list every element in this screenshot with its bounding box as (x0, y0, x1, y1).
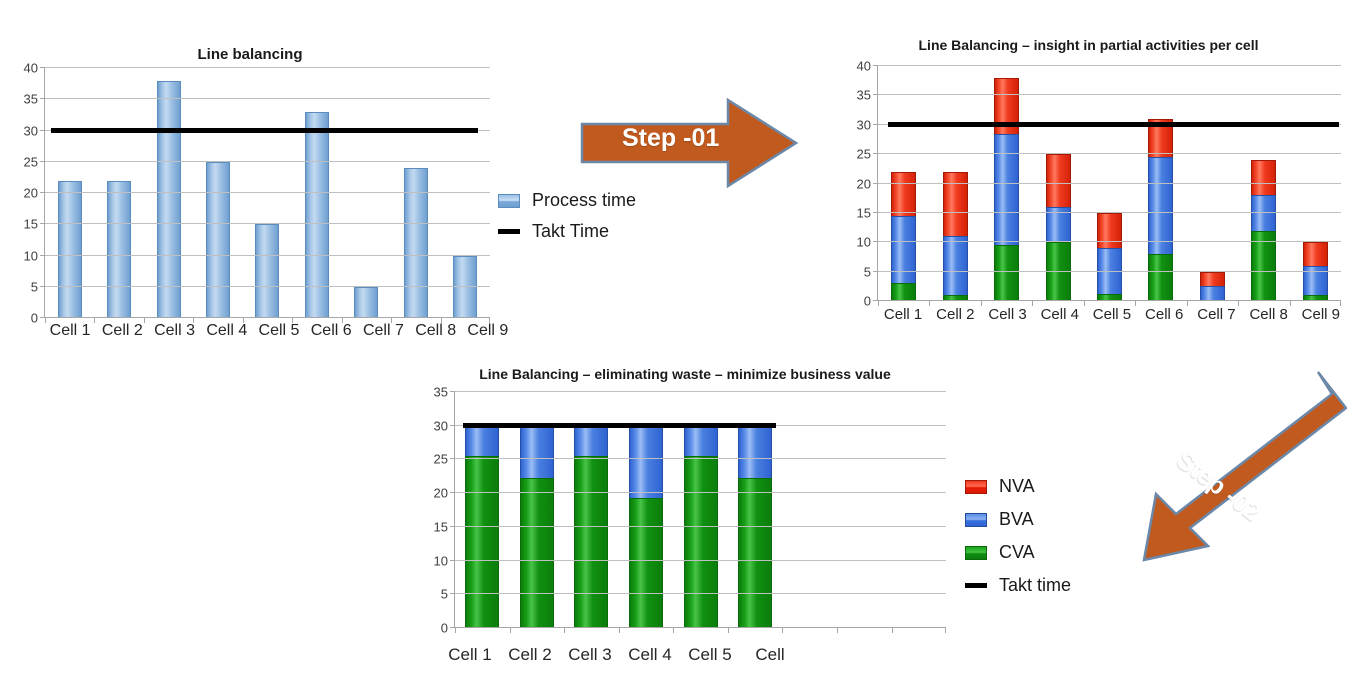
legend-row[interactable]: Takt time (965, 569, 1071, 602)
x-tickmark (837, 628, 838, 633)
gridline (878, 153, 1341, 154)
gridline (45, 192, 490, 193)
y-tickmark (40, 317, 45, 318)
bar-slot[interactable] (1135, 66, 1186, 301)
chart1-plot-area (44, 68, 490, 318)
bar-slot[interactable] (391, 68, 440, 318)
x-axis-label: Cell 2 (929, 306, 981, 323)
legend-label: BVA (999, 509, 1034, 530)
y-tick-label: 0 (31, 311, 38, 326)
x-axis-label: Cell 4 (1034, 306, 1086, 323)
bar-slot[interactable] (1290, 66, 1341, 301)
bar-slot[interactable] (1084, 66, 1135, 301)
y-tick-label: 0 (864, 294, 871, 309)
bar[interactable] (943, 172, 968, 301)
x-axis-label: Cell 1 (877, 306, 929, 323)
gridline (455, 526, 946, 527)
bar-segment-bva (574, 426, 608, 456)
gridline (45, 67, 490, 68)
chart3-plot: 05101520253035 (420, 392, 946, 628)
chart-partial-activities: Line Balancing – insight in partial acti… (830, 28, 1347, 355)
takt-time-line (888, 122, 1339, 127)
x-axis-label: Cell 9 (1295, 306, 1347, 323)
y-tick-label: 25 (24, 154, 38, 169)
y-tickmark (450, 492, 455, 493)
y-tick-label: 15 (24, 217, 38, 232)
arrow-down-left-icon (1128, 368, 1347, 568)
x-axis-label: Cell 3 (148, 322, 200, 340)
legend-swatch (498, 194, 520, 208)
bar-segment-cva (465, 456, 499, 628)
bar[interactable] (1097, 213, 1122, 301)
arrow-step-02: Step -02 (1128, 368, 1347, 568)
bar-segment-cva (684, 456, 718, 628)
bar-segment-nva (1046, 154, 1071, 207)
chart3-plot-area (454, 392, 946, 628)
chart2-y-axis: 0510152025303540 (843, 66, 877, 301)
x-tickmark (782, 628, 783, 633)
y-tick-label: 35 (857, 88, 871, 103)
bar[interactable] (206, 162, 230, 318)
gridline (878, 300, 1341, 301)
y-tickmark (40, 286, 45, 287)
bar[interactable] (354, 287, 378, 318)
y-tick-label: 20 (857, 176, 871, 191)
bar-slot[interactable] (144, 68, 193, 318)
legend-label: Process time (532, 190, 636, 211)
x-axis-label: Cell 6 (305, 322, 357, 340)
bar-slot[interactable] (94, 68, 143, 318)
gridline (878, 183, 1341, 184)
bar-segment-bva (738, 426, 772, 478)
y-tickmark (450, 425, 455, 426)
gridline (45, 255, 490, 256)
y-tick-label: 30 (24, 123, 38, 138)
chart1-y-axis: 0510152025303540 (10, 68, 44, 318)
bar[interactable] (404, 168, 428, 318)
y-tickmark (873, 212, 878, 213)
x-axis-label: Cell 8 (1243, 306, 1295, 323)
y-tick-label: 35 (24, 92, 38, 107)
bar-segment-cva (891, 283, 916, 301)
x-axis-label: Cell 5 (253, 322, 305, 340)
y-tickmark (40, 130, 45, 131)
y-tickmark (450, 526, 455, 527)
legend-label: Takt time (999, 575, 1071, 596)
x-axis-label: Cell 3 (560, 645, 620, 665)
chart1-x-labels: Cell 1Cell 2Cell 3Cell 4Cell 5Cell 6Cell… (44, 322, 514, 340)
y-tickmark (450, 627, 455, 628)
bar-segment-bva (1251, 195, 1276, 230)
y-tick-label: 5 (31, 279, 38, 294)
legend-row[interactable]: BVA (965, 503, 1071, 536)
y-tickmark (873, 271, 878, 272)
y-tickmark (40, 98, 45, 99)
y-tick-label: 10 (857, 235, 871, 250)
x-tickmark (455, 628, 456, 633)
bar[interactable] (994, 78, 1019, 301)
bar-slot[interactable] (342, 68, 391, 318)
y-tickmark (40, 67, 45, 68)
bar[interactable] (738, 426, 772, 628)
gridline (455, 492, 946, 493)
y-tick-label: 0 (441, 621, 448, 636)
bar-slot[interactable] (441, 68, 490, 318)
x-axis-label: Cell 6 (1138, 306, 1190, 323)
bar-slot[interactable] (981, 66, 1032, 301)
bar-segment-bva (520, 426, 554, 478)
legend-row[interactable]: CVA (965, 536, 1071, 569)
bar[interactable] (58, 181, 82, 319)
gridline (455, 458, 946, 459)
x-tickmark (892, 628, 893, 633)
gridline (455, 593, 946, 594)
legend-label: CVA (999, 542, 1035, 563)
chart1-plot: 0510152025303540 (10, 68, 490, 318)
y-tick-label: 5 (864, 264, 871, 279)
x-tickmark (673, 628, 674, 633)
y-tickmark (873, 183, 878, 184)
x-axis-label: Cell 8 (410, 322, 462, 340)
x-tickmark (510, 628, 511, 633)
x-axis-label: Cell (740, 645, 800, 665)
y-tick-label: 20 (24, 186, 38, 201)
gridline (878, 94, 1341, 95)
legend-swatch (965, 546, 987, 560)
legend-line-marker (498, 229, 520, 234)
bar-segment-bva (465, 426, 499, 456)
y-tick-label: 5 (441, 587, 448, 602)
chart2-plot: 0510152025303540 (843, 66, 1341, 301)
x-axis-label: Cell 1 (44, 322, 96, 340)
y-tickmark (40, 161, 45, 162)
x-tickmark (728, 628, 729, 633)
y-tick-label: 40 (857, 59, 871, 74)
legend-swatch (965, 513, 987, 527)
y-tick-label: 25 (857, 147, 871, 162)
chart3-y-axis: 05101520253035 (420, 392, 454, 628)
y-tick-label: 25 (434, 452, 448, 467)
y-tick-label: 20 (434, 486, 448, 501)
y-tick-label: 30 (434, 418, 448, 433)
x-axis-label: Cell 4 (201, 322, 253, 340)
y-tickmark (873, 65, 878, 66)
x-tickmark (564, 628, 565, 633)
y-tick-label: 15 (434, 519, 448, 534)
y-tickmark (873, 153, 878, 154)
bar-slot[interactable] (1238, 66, 1289, 301)
gridline (878, 271, 1341, 272)
y-tick-label: 30 (857, 117, 871, 132)
gridline (455, 391, 946, 392)
legend-line-marker (965, 583, 987, 588)
legend-row[interactable]: Takt Time (498, 216, 636, 247)
x-axis-label: Cell 2 (96, 322, 148, 340)
bar-segment-nva (943, 172, 968, 237)
bar-segment-cva (1046, 242, 1071, 301)
chart2-bars (878, 66, 1341, 301)
y-tick-label: 40 (24, 61, 38, 76)
bar-segment-bva (1148, 157, 1173, 254)
y-tickmark (873, 124, 878, 125)
bar-slot[interactable] (929, 66, 980, 301)
x-axis-label: Cell 7 (357, 322, 409, 340)
chart2-x-labels: Cell 1Cell 2Cell 3Cell 4Cell 5Cell 6Cell… (877, 306, 1347, 323)
bar-segment-cva (629, 498, 663, 628)
chart-line-balancing: Line balancing 0510152025303540 Cell 1Ce… (0, 30, 830, 355)
bar-slot[interactable] (45, 68, 94, 318)
chart2-plot-area (877, 66, 1341, 301)
gridline (878, 241, 1341, 242)
chart1-bars (45, 68, 490, 318)
y-tickmark (873, 241, 878, 242)
chart3-legend: NVABVACVATakt time (965, 470, 1071, 602)
chart3-title: Line Balancing – eliminating waste – min… (400, 366, 970, 382)
y-tickmark (450, 391, 455, 392)
y-tick-label: 10 (24, 248, 38, 263)
bar[interactable] (1148, 119, 1173, 301)
chart2-title: Line Balancing – insight in partial acti… (830, 37, 1347, 53)
bar[interactable] (453, 256, 477, 319)
takt-time-line (463, 423, 776, 428)
bar-segment-cva (1148, 254, 1173, 301)
chart1-legend: Process timeTakt Time (498, 185, 636, 247)
bar-segment-bva (629, 426, 663, 498)
gridline (45, 161, 490, 162)
bar-segment-cva (574, 456, 608, 628)
chart3-x-labels: Cell 1Cell 2Cell 3Cell 4Cell 5Cell (440, 645, 800, 665)
x-axis-label: Cell 7 (1190, 306, 1242, 323)
gridline (45, 286, 490, 287)
bar[interactable] (629, 426, 663, 628)
takt-time-line (51, 128, 478, 133)
y-tick-label: 10 (434, 553, 448, 568)
bar-segment-nva (1303, 242, 1328, 266)
gridline (878, 65, 1341, 66)
bar[interactable] (891, 172, 916, 301)
bar-slot[interactable] (1187, 66, 1238, 301)
bar-segment-cva (738, 478, 772, 628)
bar-segment-bva (943, 236, 968, 295)
y-tickmark (873, 94, 878, 95)
y-tickmark (40, 255, 45, 256)
bar-segment-bva (994, 134, 1019, 246)
bar-slot[interactable] (878, 66, 929, 301)
chart-eliminating-waste: Line Balancing – eliminating waste – min… (400, 360, 970, 678)
bar-segment-bva (891, 216, 916, 284)
x-tickmark (945, 628, 946, 633)
bar-segment-nva (1097, 213, 1122, 248)
bar-slot[interactable] (1032, 66, 1083, 301)
y-tickmark (450, 560, 455, 561)
x-axis-label: Cell 5 (680, 645, 740, 665)
gridline (455, 627, 946, 628)
legend-row[interactable]: NVA (965, 470, 1071, 503)
arrow-step-01-label: Step -01 (622, 124, 719, 153)
legend-label: Takt Time (532, 221, 609, 242)
bar-segment-nva (1200, 272, 1225, 287)
x-axis-label: Cell 3 (981, 306, 1033, 323)
bar-slot[interactable] (193, 68, 242, 318)
bar-slot[interactable] (292, 68, 341, 318)
y-tickmark (40, 223, 45, 224)
gridline (45, 98, 490, 99)
bar-segment-bva (684, 426, 718, 456)
x-axis-label: Cell 4 (620, 645, 680, 665)
gridline (878, 212, 1341, 213)
y-tick-label: 35 (434, 385, 448, 400)
bar-segment-bva (1200, 286, 1225, 301)
bar[interactable] (1200, 272, 1225, 301)
bar-segment-cva (994, 245, 1019, 301)
x-axis-label: Cell 9 (462, 322, 514, 340)
y-tickmark (450, 593, 455, 594)
bar[interactable] (520, 426, 554, 628)
legend-swatch (965, 480, 987, 494)
bar-segment-nva (1251, 160, 1276, 195)
gridline (455, 560, 946, 561)
bar[interactable] (305, 112, 329, 318)
x-axis-label: Cell 1 (440, 645, 500, 665)
legend-label: NVA (999, 476, 1035, 497)
x-tickmark (619, 628, 620, 633)
bar[interactable] (574, 426, 608, 628)
bar-slot[interactable] (243, 68, 292, 318)
y-tickmark (873, 300, 878, 301)
x-axis-label: Cell 2 (500, 645, 560, 665)
x-axis-label: Cell 5 (1086, 306, 1138, 323)
bar-segment-cva (520, 478, 554, 628)
y-tickmark (450, 458, 455, 459)
bar-segment-nva (891, 172, 916, 216)
bar[interactable] (1303, 242, 1328, 301)
bar[interactable] (157, 81, 181, 319)
gridline (45, 223, 490, 224)
bar[interactable] (684, 426, 718, 628)
arrow-step-01: Step -01 (578, 96, 800, 190)
gridline (45, 317, 490, 318)
y-tick-label: 15 (857, 205, 871, 220)
bar[interactable] (465, 426, 499, 628)
chart1-title: Line balancing (0, 46, 500, 63)
bar[interactable] (1251, 160, 1276, 301)
bar[interactable] (1046, 154, 1071, 301)
y-tickmark (40, 192, 45, 193)
bar[interactable] (107, 181, 131, 319)
bar[interactable] (255, 224, 279, 318)
